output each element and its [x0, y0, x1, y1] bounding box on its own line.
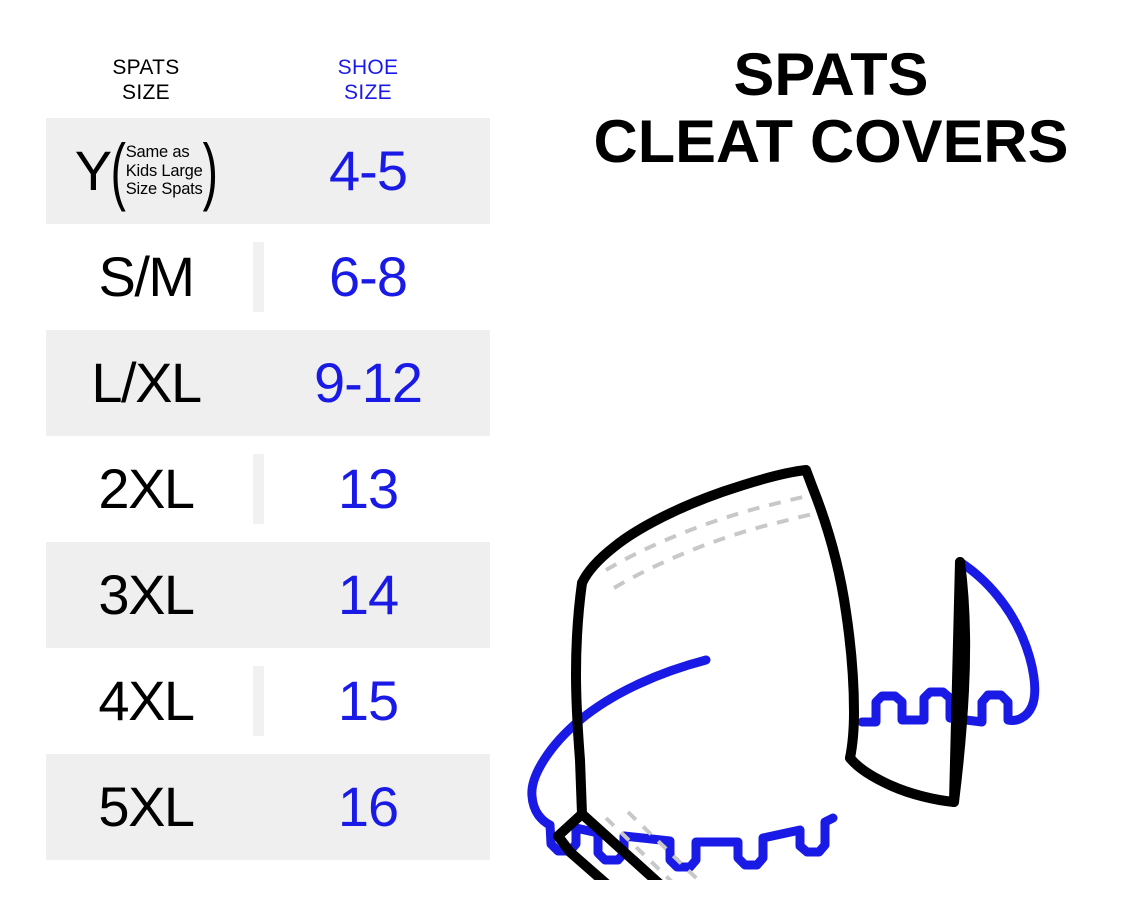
spats-size-label: Y [75, 143, 111, 199]
cell-shoe-size: 4-5 [246, 143, 490, 199]
cell-spats-size: 4XL [46, 673, 246, 729]
spats-size-label: 3XL [98, 567, 193, 623]
page-title: SPATS CLEAT COVERS [545, 42, 1117, 176]
youth-size-group: Y ( Same as Kids Large Size Spats ) [75, 143, 218, 199]
spats-size-header-line2: SIZE [46, 80, 246, 105]
title-line-2: CLEAT COVERS [539, 108, 1122, 176]
cell-spats-size: 3XL [46, 567, 246, 623]
column-divider [253, 242, 264, 312]
column-header-spats-size: SPATS SIZE [46, 45, 246, 118]
spats-size-label: S/M [98, 249, 193, 305]
table-row: 4XL 15 [46, 648, 490, 754]
spat-cover-outline [582, 470, 854, 758]
table-body: Y ( Same as Kids Large Size Spats ) 4-5 … [46, 118, 490, 860]
table-header-row: SPATS SIZE SHOE SIZE [46, 45, 490, 118]
shoe-size-header-line1: SHOE [338, 56, 399, 79]
youth-size-note: Same as Kids Large Size Spats [126, 143, 203, 199]
table-row: S/M 6-8 [46, 224, 490, 330]
cell-shoe-size: 14 [246, 567, 490, 623]
spats-size-label: L/XL [91, 355, 200, 411]
shoe-size-header-line2: SIZE [246, 80, 490, 105]
spat-instep-strap [582, 814, 724, 880]
cell-spats-size: L/XL [46, 355, 246, 411]
youth-note-line1: Same as [126, 143, 190, 161]
column-divider [253, 666, 264, 736]
cell-spats-size: 5XL [46, 779, 246, 835]
table-row: L/XL 9-12 [46, 330, 490, 436]
cell-spats-size: S/M [46, 249, 246, 305]
title-line-1: SPATS [539, 42, 1122, 108]
column-header-shoe-size: SHOE SIZE [246, 45, 490, 118]
spat-back-edge [850, 562, 960, 802]
spats-size-label: 2XL [98, 461, 193, 517]
spats-size-label: 4XL [98, 673, 193, 729]
cell-shoe-size: 6-8 [246, 249, 490, 305]
cleat-illustration-svg [510, 240, 1127, 880]
paren-close: ) [202, 143, 217, 199]
column-divider [253, 454, 264, 524]
cleat-toe-and-heel-outline [862, 562, 1035, 722]
cell-spats-size: Y ( Same as Kids Large Size Spats ) [46, 143, 246, 199]
cleat-cover-illustration [510, 240, 1127, 880]
paren-open: ( [111, 143, 126, 199]
cell-shoe-size: 15 [246, 673, 490, 729]
youth-note-line3: Size Spats [126, 180, 203, 198]
cell-spats-size: 2XL [46, 461, 246, 517]
cell-shoe-size: 16 [246, 779, 490, 835]
youth-note-line2: Kids Large [126, 162, 203, 180]
table-row: 3XL 14 [46, 542, 490, 648]
cell-shoe-size: 9-12 [246, 355, 490, 411]
table-row: 2XL 13 [46, 436, 490, 542]
size-chart-table: SPATS SIZE SHOE SIZE Y ( Same as Kids La… [46, 45, 490, 860]
cell-shoe-size: 13 [246, 461, 490, 517]
table-row: 5XL 16 [46, 754, 490, 860]
spats-size-label: 5XL [98, 779, 193, 835]
spats-size-header-line1: SPATS [112, 56, 179, 79]
table-row: Y ( Same as Kids Large Size Spats ) 4-5 [46, 118, 490, 224]
